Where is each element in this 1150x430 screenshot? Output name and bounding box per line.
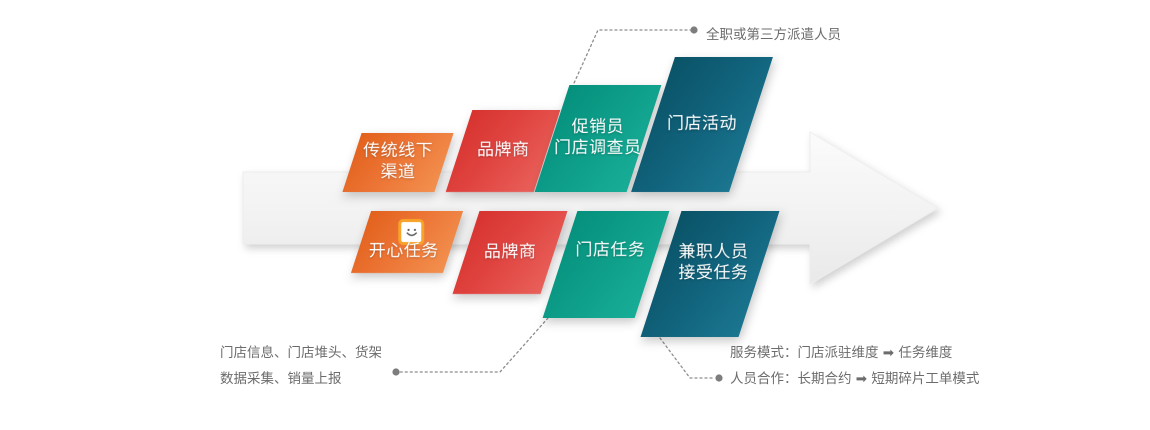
block-store-activity[interactable]: 门店活动	[631, 57, 773, 192]
leader-dot-data-collection	[392, 368, 399, 375]
leader-dot-staffing	[690, 26, 697, 33]
annotation-line: 门店信息、门店堆头、货架	[220, 340, 382, 366]
annotation-line: 全职或第三方派遣人员	[706, 22, 841, 48]
block-label: 品牌商	[477, 140, 530, 161]
block-label: 促销员 门店调查员	[554, 117, 642, 160]
annotation-data-collection: 门店信息、门店堆头、货架 数据采集、销量上报	[220, 340, 382, 393]
annotation-line: 数据采集、销量上报	[220, 366, 382, 392]
annotation-line: 服务模式：门店派驻维度 ➡ 任务维度	[730, 340, 979, 366]
block-traditional-channel[interactable]: 传统线下 渠道	[342, 133, 453, 192]
block-label: 门店任务	[576, 240, 646, 261]
leader-dot-service-model	[715, 374, 722, 381]
block-label: 门店活动	[667, 114, 737, 135]
block-label: 传统线下 渠道	[363, 141, 433, 184]
block-label: 开心任务	[369, 241, 439, 262]
block-label: 兼职人员 接受任务	[679, 242, 749, 285]
annotation-staffing: 全职或第三方派遣人员	[706, 22, 841, 48]
block-brand-owner-bottom[interactable]: 品牌商	[453, 211, 568, 294]
annotation-line: 人员合作：长期合约 ➡ 短期碎片工单模式	[730, 366, 979, 392]
diagram-canvas: 传统线下 渠道 品牌商 促销员 门店调查员 门店活动 开心任务 品牌商 门店任务…	[0, 0, 1150, 430]
block-label: 品牌商	[484, 242, 537, 263]
annotation-service-model: 服务模式：门店派驻维度 ➡ 任务维度 人员合作：长期合约 ➡ 短期碎片工单模式	[730, 340, 979, 393]
block-happy-task[interactable]: 开心任务	[351, 211, 463, 273]
